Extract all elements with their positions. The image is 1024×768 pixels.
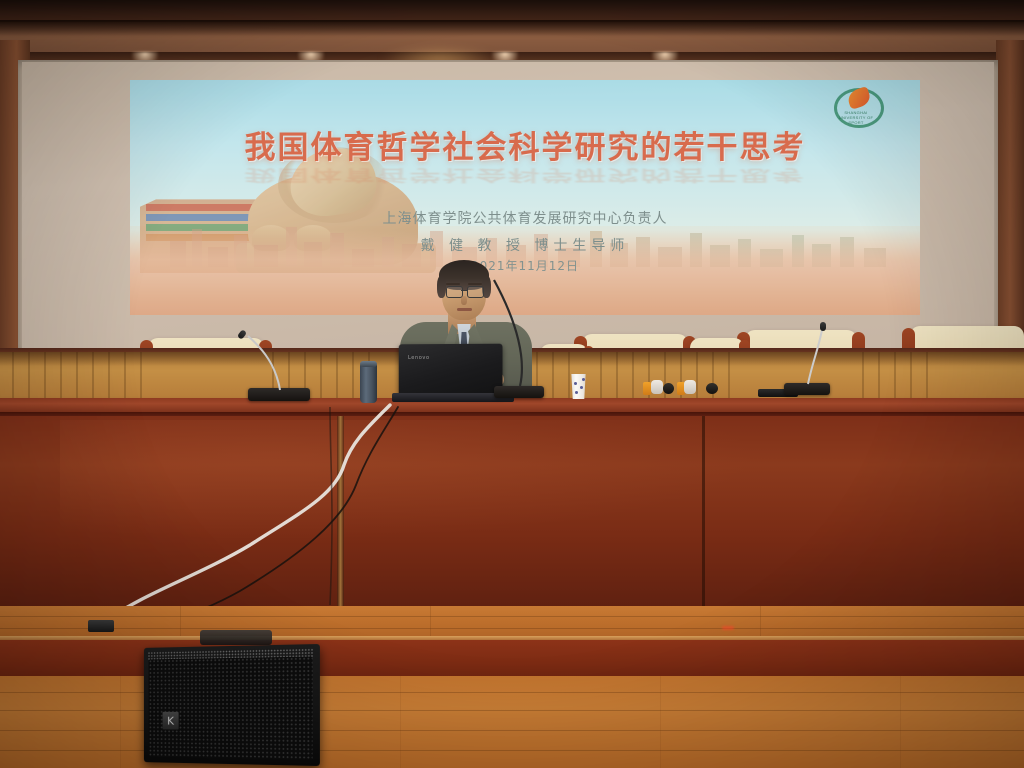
slide-subtitle-speaker: 戴 健 教 授 博士生导师 [130, 235, 920, 255]
floor-grain [660, 676, 661, 768]
glasses-lens-left [446, 286, 463, 298]
desk-item-black-right [706, 383, 718, 394]
desk-item-white-right [684, 380, 696, 394]
right-wall [996, 40, 1024, 370]
laptop-brand-label: Lenovo [408, 355, 430, 361]
paper-cup-pattern-dot [574, 382, 577, 385]
black-cable [104, 407, 398, 633]
logo-caption: SHANGHAI UNIVERSITY OF SPORT [836, 110, 876, 125]
monitor-grille [149, 657, 313, 760]
floor-plank-line [0, 628, 1024, 629]
stage-monitor-speaker: K [144, 644, 320, 766]
floor-grain [400, 676, 401, 768]
gooseneck-microphone-center-stem [470, 268, 550, 390]
speaker-eyebrow-left [446, 283, 460, 285]
university-logo: SHANGHAI UNIVERSITY OF SPORT [828, 86, 884, 126]
gooseneck-microphone-right-head [820, 322, 826, 331]
monitor-brand-badge: K [163, 712, 179, 730]
floor-plank-line [0, 616, 1024, 617]
thermos-tumbler-cap [360, 361, 377, 367]
monitor-bracket [88, 620, 114, 632]
floor-grain [900, 676, 901, 768]
white-cable [106, 405, 390, 621]
monitor-handle [200, 630, 272, 645]
speaker-hair-side-left [437, 276, 446, 298]
floor-grain [120, 676, 121, 768]
black-cable-secondary [330, 407, 332, 605]
lecture-hall-photo: 我国体育哲学社会科学研究的若干思考 我国体育哲学社会科学研究的若干思考 上海体育… [0, 0, 1024, 768]
gooseneck-microphone-right-stem [790, 320, 840, 386]
desk-item-orange-left [643, 382, 651, 395]
slide-subtitle-affiliation: 上海体育学院公共体育发展研究中心负责人 [130, 208, 920, 228]
speaker-nose [461, 296, 467, 305]
gooseneck-microphone-left-stem [222, 320, 292, 392]
slide-title: 我国体育哲学社会科学研究的若干思考 [130, 122, 920, 167]
glasses-bridge [461, 290, 467, 291]
desk-item-white-left [651, 380, 663, 394]
paper-cup-pattern-dot [582, 378, 585, 381]
slide-title-reflection: 我国体育哲学社会科学研究的若干思考 [130, 165, 920, 188]
red-floor-mark [722, 626, 734, 630]
paper-cup-pattern-dot [575, 391, 578, 394]
paper-cup-pattern-dot [580, 386, 583, 389]
ceiling-shadow [0, 20, 1024, 36]
desk-item-black-left [663, 383, 674, 394]
